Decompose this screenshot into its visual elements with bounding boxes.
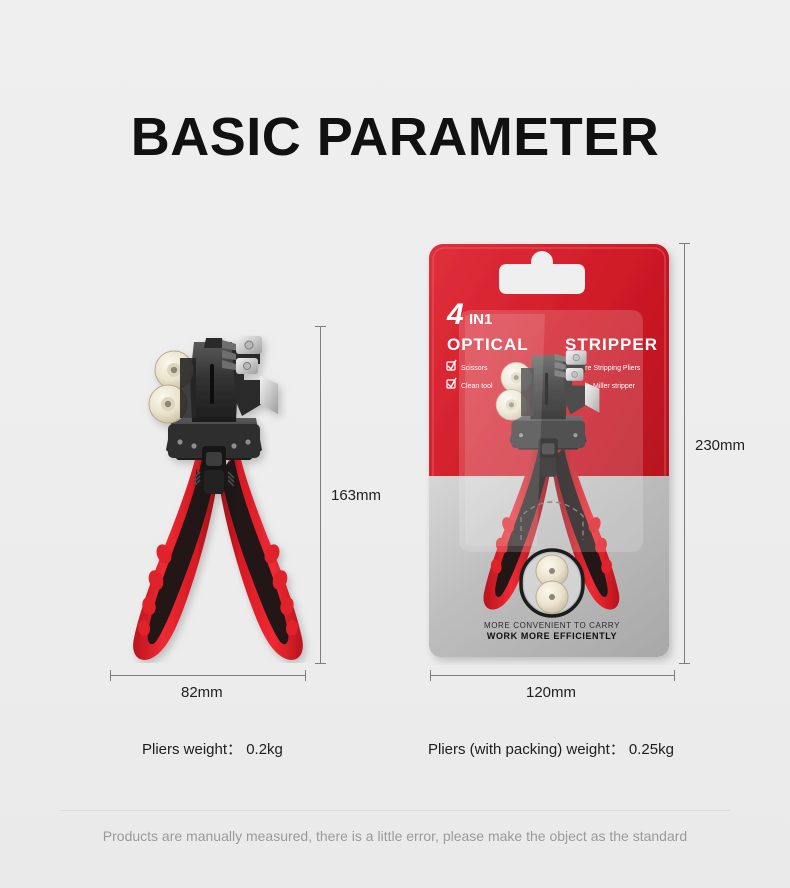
blade-wedge [260, 376, 278, 414]
packaged-pliers-width-line [430, 675, 675, 676]
slogan-line-1-text: MORE CONVENIENT TO CARRY [484, 621, 620, 630]
packaged-pliers-height-line [684, 243, 685, 664]
page-title: BASIC PARAMETER [0, 106, 790, 168]
bare-pliers-height-line [320, 326, 321, 664]
bare-pliers-weight-label: Pliers weight： 0.2kg [142, 738, 283, 759]
footer-note: Products are manually measured, there is… [0, 828, 790, 844]
bare-pliers-image [110, 318, 315, 663]
packaged-pliers-width-label: 120mm [526, 684, 576, 701]
slogan-line-2-text: WORK MORE EFFICIENTLY [487, 631, 617, 641]
footer-divider [60, 810, 730, 811]
page-background: BASIC PARAMETER [0, 0, 790, 888]
packaged-pliers-weight-label: Pliers (with packing) weight： 0.25kg [428, 738, 674, 759]
bare-pliers-width-line [110, 675, 306, 676]
bare-pliers-width-label: 82mm [181, 684, 223, 701]
packaged-pliers-image: 4 IN1 OPTICAL STRIPPER Scissors Clean to… [425, 240, 680, 665]
bare-pliers-height-label: 163mm [331, 487, 381, 504]
packaged-pliers-height-label: 230mm [695, 437, 745, 454]
